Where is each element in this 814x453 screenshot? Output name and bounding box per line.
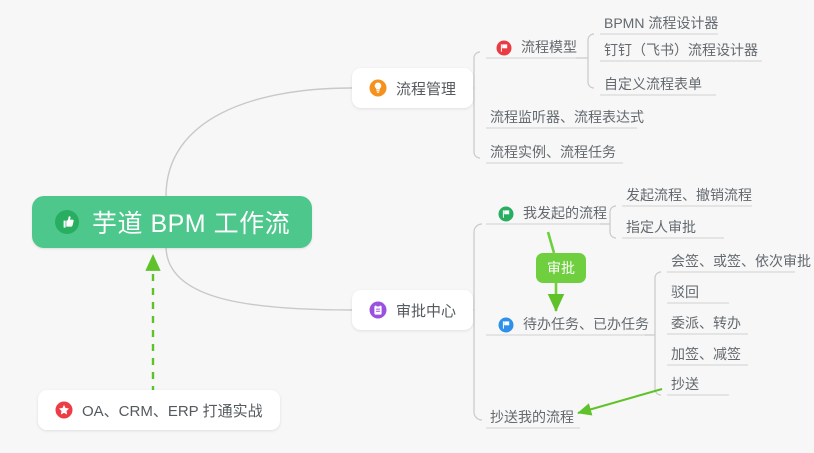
node-my-initiated-process[interactable]: 我发起的流程 [492,202,613,226]
node-add-remove-sign[interactable]: 加签、减签 [665,343,747,367]
clipboard-icon [369,301,387,319]
node-reject[interactable]: 驳回 [665,281,705,305]
label-dingtalk-feishu-designer: 钉钉（飞书）流程设计器 [604,41,758,59]
label-custom-process-form: 自定义流程表单 [604,75,702,93]
flag-icon [496,40,512,56]
thumbs-up-icon [54,209,80,235]
connector-todo-done-bracket [655,272,661,395]
node-start-cancel-process[interactable]: 发起流程、撤销流程 [620,184,758,208]
approval-badge[interactable]: 审批 [536,253,586,283]
node-dingtalk-feishu-designer[interactable]: 钉钉（飞书）流程设计器 [598,39,764,63]
root-node[interactable]: 芋道 BPM 工作流 [32,196,312,248]
star-icon [55,401,73,419]
connector-root-to-approval-center [166,246,352,310]
flag-icon [498,206,514,222]
flow-arrow-initiate-to-todo-upper [548,232,554,253]
root-label: 芋道 BPM 工作流 [92,204,290,240]
connector-process-management-bracket [474,52,480,158]
node-todo-done-task[interactable]: 待办任务、已办任务 [492,313,655,337]
label-process-instance-task: 流程实例、流程任务 [490,143,616,161]
connector-root-to-process-management [166,88,352,196]
node-process-instance-task[interactable]: 流程实例、流程任务 [484,141,622,165]
flag-icon [498,317,514,333]
node-assignee-approval[interactable]: 指定人审批 [620,216,702,240]
node-custom-process-form[interactable]: 自定义流程表单 [598,73,708,97]
label-add-remove-sign: 加签、减签 [671,345,741,363]
label-my-initiated-process: 我发起的流程 [523,204,607,222]
node-bpmn-designer[interactable]: BPMN 流程设计器 [598,12,724,36]
label-bpmn-designer: BPMN 流程设计器 [604,14,718,32]
label-carbon-copy: 抄送 [671,375,699,393]
label-reject: 驳回 [671,283,699,301]
footer-node-oa-crm-erp[interactable]: OA、CRM、ERP 打通实战 [38,390,280,430]
flow-arrow-carbon-copy-to-cc-process [578,389,662,413]
label-start-cancel-process: 发起流程、撤销流程 [626,186,752,204]
branch-node-process-management[interactable]: 流程管理 [352,68,473,108]
label-process-listener-expression: 流程监听器、流程表达式 [490,108,644,126]
node-delegate-transfer[interactable]: 委派、转办 [665,312,747,336]
node-process-listener-expression[interactable]: 流程监听器、流程表达式 [484,106,650,130]
label-process-model: 流程模型 [521,38,577,56]
lightbulb-icon [369,79,387,97]
branch-label-approval-center: 审批中心 [396,300,456,321]
label-delegate-transfer: 委派、转办 [671,314,741,332]
node-process-model[interactable]: 流程模型 [490,36,583,60]
label-countersign-orsign-sequential: 会签、或签、依次审批 [671,252,811,270]
connector-process-model-bracket [588,34,594,88]
label-assignee-approval: 指定人审批 [626,218,696,236]
node-carbon-copy[interactable]: 抄送 [665,373,705,397]
connector-approval-center-bracket [474,224,482,420]
branch-label-process-management: 流程管理 [396,78,456,99]
footer-node-label: OA、CRM、ERP 打通实战 [82,400,263,421]
label-cc-to-me-process: 抄送我的流程 [490,408,574,426]
mindmap-canvas: 芋道 BPM 工作流 流程管理 审批中心 [0,0,814,453]
branch-node-approval-center[interactable]: 审批中心 [352,290,473,330]
node-countersign-orsign-sequential[interactable]: 会签、或签、依次审批 [665,250,814,274]
approval-badge-label: 审批 [547,258,575,278]
node-cc-to-me-process[interactable]: 抄送我的流程 [484,406,580,430]
label-todo-done-task: 待办任务、已办任务 [523,315,649,333]
